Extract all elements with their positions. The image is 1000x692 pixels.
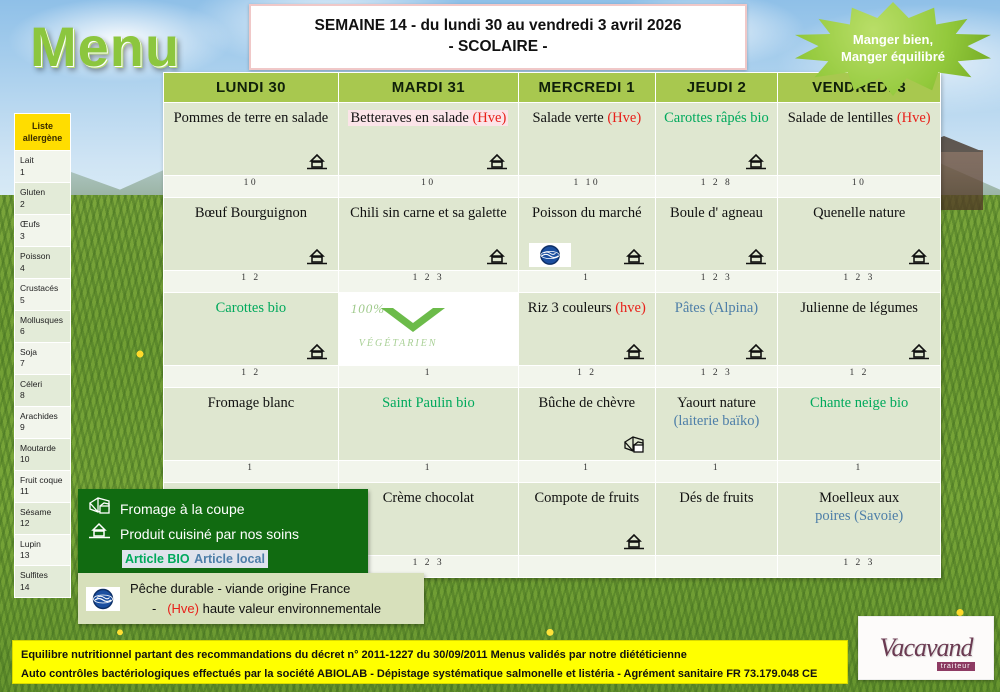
allergen-item-number: 3 xyxy=(20,231,65,242)
allergen-codes-accompagnement-mardi-31: 1 xyxy=(338,366,518,388)
dish-name: Pâtes (Alpina) xyxy=(675,300,758,316)
dish-name: Julienne de légumes xyxy=(800,300,918,316)
cooked-on-site-icon xyxy=(88,521,112,546)
allergen-codes-plat-mardi-31: 1 2 3 xyxy=(338,271,518,293)
day-header-mercredi-1: MERCREDI 1 xyxy=(519,73,656,103)
cooked-on-site-icon xyxy=(906,341,932,361)
legend-tags: Article BIO Article local xyxy=(122,550,268,568)
cooked-on-site-icon xyxy=(304,341,330,361)
menu-cell-plat-vendredi-3: Quenelle nature xyxy=(778,198,941,271)
dish-name: Crème chocolat xyxy=(383,490,474,506)
allergen-codes-fromage-lundi-30: 1 xyxy=(164,461,339,483)
allergen-item-number: 1 xyxy=(20,167,65,178)
menu-cell-accompagnement-jeudi-2: Pâtes (Alpina) xyxy=(655,293,778,366)
cooked-on-site-icon xyxy=(743,246,769,266)
allergen-item-6: Mollusques6 xyxy=(15,310,70,342)
allergen-item-name: Sulfites xyxy=(20,570,65,581)
dish-name: Yaourt nature xyxy=(677,395,756,411)
allergen-item-number: 9 xyxy=(20,422,65,433)
legend-fishing-box: Pêche durable - viande origine France - … xyxy=(78,573,424,624)
dish-name: Betteraves en salade xyxy=(350,110,472,126)
legend-cooked-label: Produit cuisiné par nos soins xyxy=(120,524,299,544)
allergen-item-4: Poisson4 xyxy=(15,246,70,278)
allergen-row-accompagnement: 1 211 21 2 31 2 xyxy=(164,366,941,388)
allergen-item-number: 14 xyxy=(20,582,65,593)
dish-name: Moelleux aux xyxy=(819,490,899,506)
allergen-codes-plat-vendredi-3: 1 2 3 xyxy=(778,271,941,293)
allergen-item-number: 4 xyxy=(20,263,65,274)
menu-cell-entree-vendredi-3: Salade de lentilles (Hve) xyxy=(778,103,941,176)
allergen-item-5: Crustacés5 xyxy=(15,278,70,310)
legend-fishing-line2: - (Hve) haute valeur environnementale xyxy=(130,599,381,619)
page-title: Menu xyxy=(30,14,180,79)
day-header-mardi-31: MARDI 31 xyxy=(338,73,518,103)
allergen-item-name: Gluten xyxy=(20,187,65,198)
allergen-item-13: Lupin13 xyxy=(15,534,70,566)
menu-row-accompagnement: Carottes bio100%VÉGÉTARIENRiz 3 couleurs… xyxy=(164,293,941,366)
allergen-item-name: Lupin xyxy=(20,539,65,550)
menu-cell-plat-mercredi-1: Poisson du marché xyxy=(519,198,656,271)
dish-name: Compote de fruits xyxy=(534,490,639,506)
logo-brand-text: Vacavand traiteur xyxy=(879,633,972,663)
cooked-on-site-icon xyxy=(621,246,647,266)
allergen-item-name: Céleri xyxy=(20,379,65,390)
menu-cell-accompagnement-mercredi-1: Riz 3 couleurs (hve) xyxy=(519,293,656,366)
dish-name: Dés de fruits xyxy=(679,490,753,506)
slogan-line2: Manger équilibré xyxy=(841,49,945,66)
footer-notice: Equilibre nutritionnel partant des recom… xyxy=(12,640,848,684)
dish-name: Fromage blanc xyxy=(208,395,295,411)
menu-row-fromage: Fromage blancSaint Paulin bioBûche de ch… xyxy=(164,388,941,461)
allergen-codes-fromage-vendredi-3: 1 xyxy=(778,461,941,483)
menu-cell-entree-mardi-31: Betteraves en salade (Hve) xyxy=(338,103,518,176)
menu-cell-fromage-mardi-31: Saint Paulin bio xyxy=(338,388,518,461)
allergen-item-number: 11 xyxy=(20,486,65,497)
legend-cheese-label: Fromage à la coupe xyxy=(120,499,245,519)
cooked-on-site-icon xyxy=(484,151,510,171)
allergen-item-10: Moutarde10 xyxy=(15,438,70,470)
allergen-codes-plat-jeudi-2: 1 2 3 xyxy=(655,271,778,293)
cooked-on-site-icon xyxy=(304,151,330,171)
dish-label-hve: (Hve) xyxy=(607,110,641,126)
allergen-codes-entree-lundi-30: 10 xyxy=(164,176,339,198)
allergen-item-name: Mollusques xyxy=(20,315,65,326)
allergen-item-11: Fruit coque11 xyxy=(15,470,70,502)
dish-name: Salade de lentilles xyxy=(788,110,897,126)
menu-cell-dessert-jeudi-2: Dés de fruits xyxy=(655,483,778,556)
week-banner-line2: - SCOLAIRE - xyxy=(448,37,547,58)
allergen-item-8: Céleri8 xyxy=(15,374,70,406)
dish-name: Saint Paulin bio xyxy=(382,395,475,411)
allergen-codes-entree-vendredi-3: 10 xyxy=(778,176,941,198)
menu-cell-plat-lundi-30: Bœuf Bourguignon xyxy=(164,198,339,271)
cooked-on-site-icon xyxy=(621,531,647,551)
allergen-codes-plat-lundi-30: 1 2 xyxy=(164,271,339,293)
legend-fishing-text: Pêche durable - viande origine France - … xyxy=(130,579,381,618)
legend-tag-local: Article local xyxy=(194,552,265,566)
allergen-codes-accompagnement-jeudi-2: 1 2 3 xyxy=(655,366,778,388)
dish-name: Riz 3 couleurs xyxy=(528,300,615,316)
menu-cell-dessert-mercredi-1: Compote de fruits xyxy=(519,483,656,556)
allergen-codes-plat-mercredi-1: 1 xyxy=(519,271,656,293)
legend-tag-bio: Article BIO xyxy=(125,552,190,566)
menu-cell-entree-jeudi-2: Carottes râpés bio xyxy=(655,103,778,176)
allergen-item-name: Poisson xyxy=(20,251,65,262)
menu-table-head: LUNDI 30MARDI 31MERCREDI 1JEUDI 2VENDRED… xyxy=(164,73,941,103)
company-logo: Vacavand traiteur xyxy=(858,616,994,680)
allergen-item-2: Gluten2 xyxy=(15,182,70,214)
allergen-item-9: Arachides9 xyxy=(15,406,70,438)
menu-cell-fromage-jeudi-2: Yaourt nature(laiterie baïko) xyxy=(655,388,778,461)
dish-name: Poisson du marché xyxy=(532,205,642,221)
dish-name: Chante neige bio xyxy=(810,395,908,411)
allergen-list-title-line1: Liste xyxy=(17,120,68,132)
legend-preparation-box: Fromage à la coupe Produit cuisiné par n… xyxy=(78,489,368,576)
allergen-item-1: Lait1 xyxy=(15,150,70,182)
dish-label-hve: (hve) xyxy=(615,300,646,316)
legend-hve-desc: haute valeur environnementale xyxy=(203,601,382,616)
cheese-cut-icon xyxy=(88,496,112,521)
dish-name: Carottes râpés bio xyxy=(664,110,769,126)
day-header-lundi-30: LUNDI 30 xyxy=(164,73,339,103)
allergen-item-number: 8 xyxy=(20,390,65,401)
menu-cell-plat-jeudi-2: Boule d' agneau xyxy=(655,198,778,271)
legend-fishing-dash: - xyxy=(152,601,156,616)
menu-cell-entree-lundi-30: Pommes de terre en salade xyxy=(164,103,339,176)
dish-origin: poires (Savoie) xyxy=(815,508,903,524)
legend-cooked-row: Produit cuisiné par nos soins xyxy=(88,521,358,546)
dish-name: Chili sin carne et sa galette xyxy=(350,205,507,221)
allergen-row-entree: 10101 101 2 810 xyxy=(164,176,941,198)
allergen-item-name: Arachides xyxy=(20,411,65,422)
allergen-list-title-line2: allergène xyxy=(17,132,68,144)
legend-cheese-row: Fromage à la coupe xyxy=(88,496,358,521)
msc-sustainable-fishing-icon xyxy=(86,587,120,611)
allergen-row-fromage: 11111 xyxy=(164,461,941,483)
allergen-item-number: 12 xyxy=(20,518,65,529)
allergen-codes-accompagnement-mercredi-1: 1 2 xyxy=(519,366,656,388)
vegetarian-100-logo: 100%VÉGÉTARIEN xyxy=(345,299,512,351)
logo-brand-label: Vacavand xyxy=(879,633,972,662)
week-banner-line1: SEMAINE 14 - du lundi 30 au vendredi 3 a… xyxy=(315,16,682,37)
dish-name: Salade verte xyxy=(532,110,607,126)
cooked-on-site-icon xyxy=(906,246,932,266)
dish-label-hve: (Hve) xyxy=(897,110,931,126)
allergen-codes-fromage-mercredi-1: 1 xyxy=(519,461,656,483)
dish-name: Boule d' agneau xyxy=(670,205,763,221)
cooked-on-site-icon xyxy=(621,341,647,361)
allergen-codes-dessert-vendredi-3: 1 2 3 xyxy=(778,556,941,578)
allergen-item-name: Crustacés xyxy=(20,283,65,294)
allergen-item-number: 7 xyxy=(20,358,65,369)
menu-cell-fromage-mercredi-1: Bûche de chèvre xyxy=(519,388,656,461)
menu-cell-accompagnement-mardi-31: 100%VÉGÉTARIEN xyxy=(338,293,518,366)
cooked-on-site-icon xyxy=(743,341,769,361)
day-header-row: LUNDI 30MARDI 31MERCREDI 1JEUDI 2VENDRED… xyxy=(164,73,941,103)
menu-cell-accompagnement-lundi-30: Carottes bio xyxy=(164,293,339,366)
logo-sub-label: traiteur xyxy=(937,662,975,671)
menu-cell-plat-mardi-31: Chili sin carne et sa galette xyxy=(338,198,518,271)
allergen-item-name: Œufs xyxy=(20,219,65,230)
menu-cell-accompagnement-vendredi-3: Julienne de légumes xyxy=(778,293,941,366)
cooked-on-site-icon xyxy=(484,246,510,266)
allergen-item-14: Sulfites14 xyxy=(15,565,70,597)
dish-name: Carottes bio xyxy=(216,300,286,316)
cooked-on-site-icon xyxy=(304,246,330,266)
allergen-codes-dessert-jeudi-2 xyxy=(655,556,778,578)
allergen-codes-fromage-mardi-31: 1 xyxy=(338,461,518,483)
msc-sustainable-fishing-icon xyxy=(529,243,571,267)
allergen-codes-accompagnement-lundi-30: 1 2 xyxy=(164,366,339,388)
allergen-item-number: 10 xyxy=(20,454,65,465)
week-banner: SEMAINE 14 - du lundi 30 au vendredi 3 a… xyxy=(249,4,747,70)
allergen-codes-entree-mardi-31: 10 xyxy=(338,176,518,198)
menu-cell-fromage-vendredi-3: Chante neige bio xyxy=(778,388,941,461)
allergen-item-name: Soja xyxy=(20,347,65,358)
legend-hve-tag: (Hve) xyxy=(167,601,199,616)
allergen-codes-entree-mercredi-1: 1 10 xyxy=(519,176,656,198)
allergen-item-number: 2 xyxy=(20,199,65,210)
allergen-item-number: 6 xyxy=(20,326,65,337)
footer-line1: Equilibre nutritionnel partant des recom… xyxy=(21,646,839,665)
cheese-cut-icon xyxy=(621,434,647,456)
allergen-codes-accompagnement-vendredi-3: 1 2 xyxy=(778,366,941,388)
menu-cell-fromage-lundi-30: Fromage blanc xyxy=(164,388,339,461)
dish-name: Bûche de chèvre xyxy=(538,395,635,411)
allergen-item-name: Moutarde xyxy=(20,443,65,454)
allergen-codes-dessert-mercredi-1 xyxy=(519,556,656,578)
allergen-codes-entree-jeudi-2: 1 2 8 xyxy=(655,176,778,198)
footer-line2: Auto contrôles bactériologiques effectué… xyxy=(21,665,839,684)
dish-origin: (laiterie baïko) xyxy=(674,413,760,429)
allergen-item-name: Sésame xyxy=(20,507,65,518)
legend-fishing-line1: Pêche durable - viande origine France xyxy=(130,581,350,596)
allergen-list-panel: Liste allergène Lait1Gluten2Œufs3Poisson… xyxy=(14,113,71,598)
allergen-item-7: Soja7 xyxy=(15,342,70,374)
dish-label-hve: (Hve) xyxy=(472,110,506,126)
menu-row-plat: Bœuf BourguignonChili sin carne et sa ga… xyxy=(164,198,941,271)
dish-name: Pommes de terre en salade xyxy=(174,110,329,126)
allergen-item-12: Sésame12 xyxy=(15,502,70,534)
menu-cell-dessert-vendredi-3: Moelleux auxpoires (Savoie) xyxy=(778,483,941,556)
allergen-item-name: Lait xyxy=(20,155,65,166)
allergen-codes-fromage-jeudi-2: 1 xyxy=(655,461,778,483)
allergen-row-plat: 1 21 2 311 2 31 2 3 xyxy=(164,271,941,293)
allergen-list-title: Liste allergène xyxy=(15,114,70,150)
allergen-item-number: 13 xyxy=(20,550,65,561)
allergen-item-number: 5 xyxy=(20,295,65,306)
dish-name: Quenelle nature xyxy=(813,205,905,221)
cooked-on-site-icon xyxy=(743,151,769,171)
menu-row-entree: Pommes de terre en saladeBetteraves en s… xyxy=(164,103,941,176)
dish-name: Bœuf Bourguignon xyxy=(195,205,307,221)
allergen-item-3: Œufs3 xyxy=(15,214,70,246)
slogan-line1: Manger bien, xyxy=(853,32,933,49)
menu-cell-entree-mercredi-1: Salade verte (Hve) xyxy=(519,103,656,176)
dish-highlight: Betteraves en salade (Hve) xyxy=(348,110,508,126)
day-header-jeudi-2: JEUDI 2 xyxy=(655,73,778,103)
allergen-item-name: Fruit coque xyxy=(20,475,65,486)
